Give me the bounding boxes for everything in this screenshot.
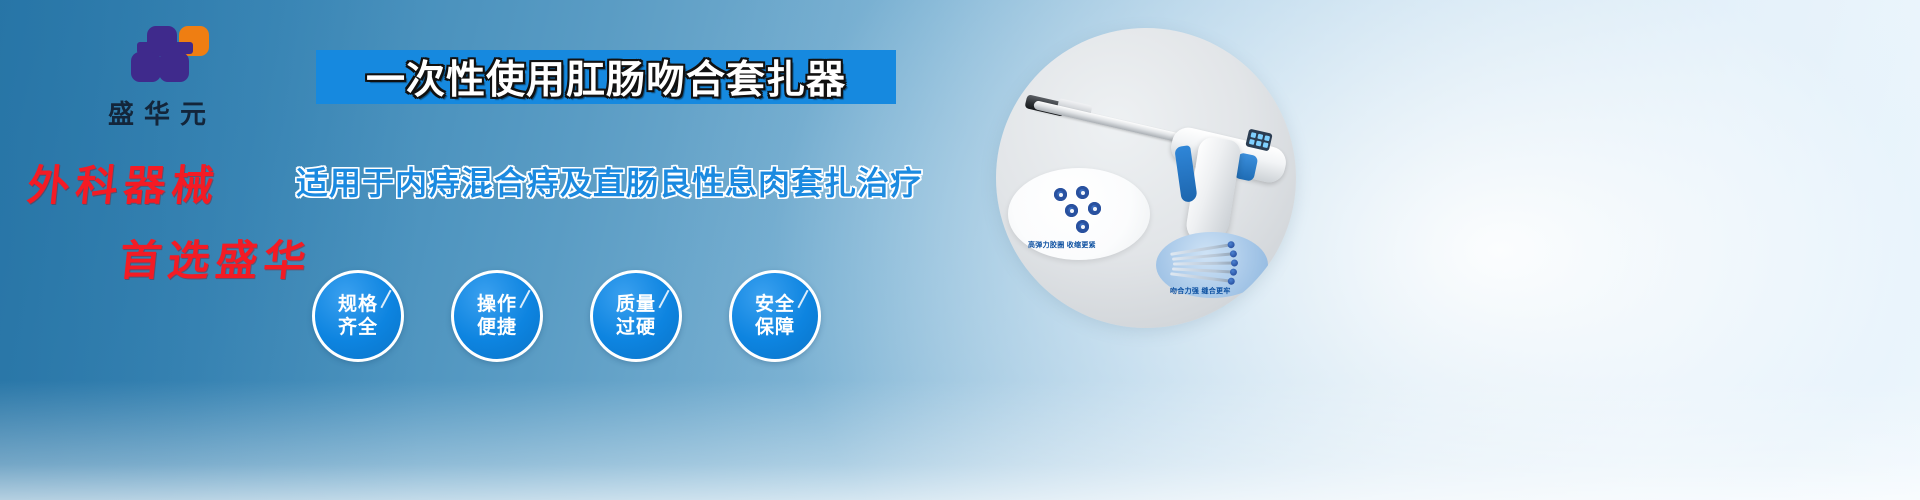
slogan-block: 外科器械 首选盛华 [24,152,354,262]
badge-slash-icon [380,290,391,309]
feature-badge-quality[interactable]: 质量 过硬 [590,270,682,362]
inset-needles-caption: 吻合力强 缝合更牢 [1170,286,1231,296]
background-bottom-fade [0,380,1920,500]
inset-anoscope [1204,296,1296,328]
feature-badge-safety[interactable]: 安全 保障 [729,270,821,362]
badge-label-line2: 过硬 [616,316,656,339]
badge-slash-icon [658,290,669,309]
badge-slash-icon [797,290,808,309]
logo-mark-icon [117,26,197,88]
brand-logo[interactable]: 盛华元 [62,26,252,131]
badge-label-line2: 便捷 [477,316,517,339]
needle [1173,261,1235,265]
page-title: 一次性使用肛肠吻合套扎器 [316,50,896,104]
page-subtitle: 适用于内痔混合痔及直肠良性息肉套扎治疗 [296,158,916,204]
needle [1170,272,1232,283]
badge-label-line2: 保障 [755,316,795,339]
rubber-ring [1054,188,1067,201]
badge-label-line2: 齐全 [338,316,378,339]
logo-square-bottom-right [159,52,189,82]
rubber-ring [1076,220,1089,233]
anoscope-marker [1272,320,1276,328]
badge-label-line1: 质量 [616,293,656,316]
rubber-ring [1088,202,1101,215]
badge-label-line1: 操作 [477,293,517,316]
brand-name: 盛华元 [62,94,252,131]
badge-slash-icon [519,290,530,309]
feature-badge-group: 规格 齐全 操作 便捷 质量 过硬 安全 保障 [312,270,852,370]
anoscope-tube [1226,318,1296,328]
feature-badge-operation[interactable]: 操作 便捷 [451,270,543,362]
promo-banner: 盛华元 一次性使用肛肠吻合套扎器 适用于内痔混合痔及直肠良性息肉套扎治疗 外科器… [0,0,1920,500]
inset-rubber-rings: 高弹力胶圈 收缩更紧 [1008,168,1150,260]
badge-label-line1: 规格 [338,293,378,316]
rubber-ring [1065,204,1078,217]
feature-badge-specs[interactable]: 规格 齐全 [312,270,404,362]
product-photo[interactable]: 高弹力胶圈 收缩更紧 吻合力强 缝合更牢 [996,28,1296,328]
rubber-ring [1076,186,1089,199]
inset-rings-caption: 高弹力胶圈 收缩更紧 [1028,240,1096,250]
slogan-line-1: 外科器械 [25,152,357,213]
anoscope-marker [1254,320,1258,328]
badge-label-line1: 安全 [755,293,795,316]
anoscope-cap [1214,324,1230,328]
logo-square-bottom-left [131,52,161,82]
inset-needles: 吻合力强 缝合更牢 [1156,232,1268,298]
